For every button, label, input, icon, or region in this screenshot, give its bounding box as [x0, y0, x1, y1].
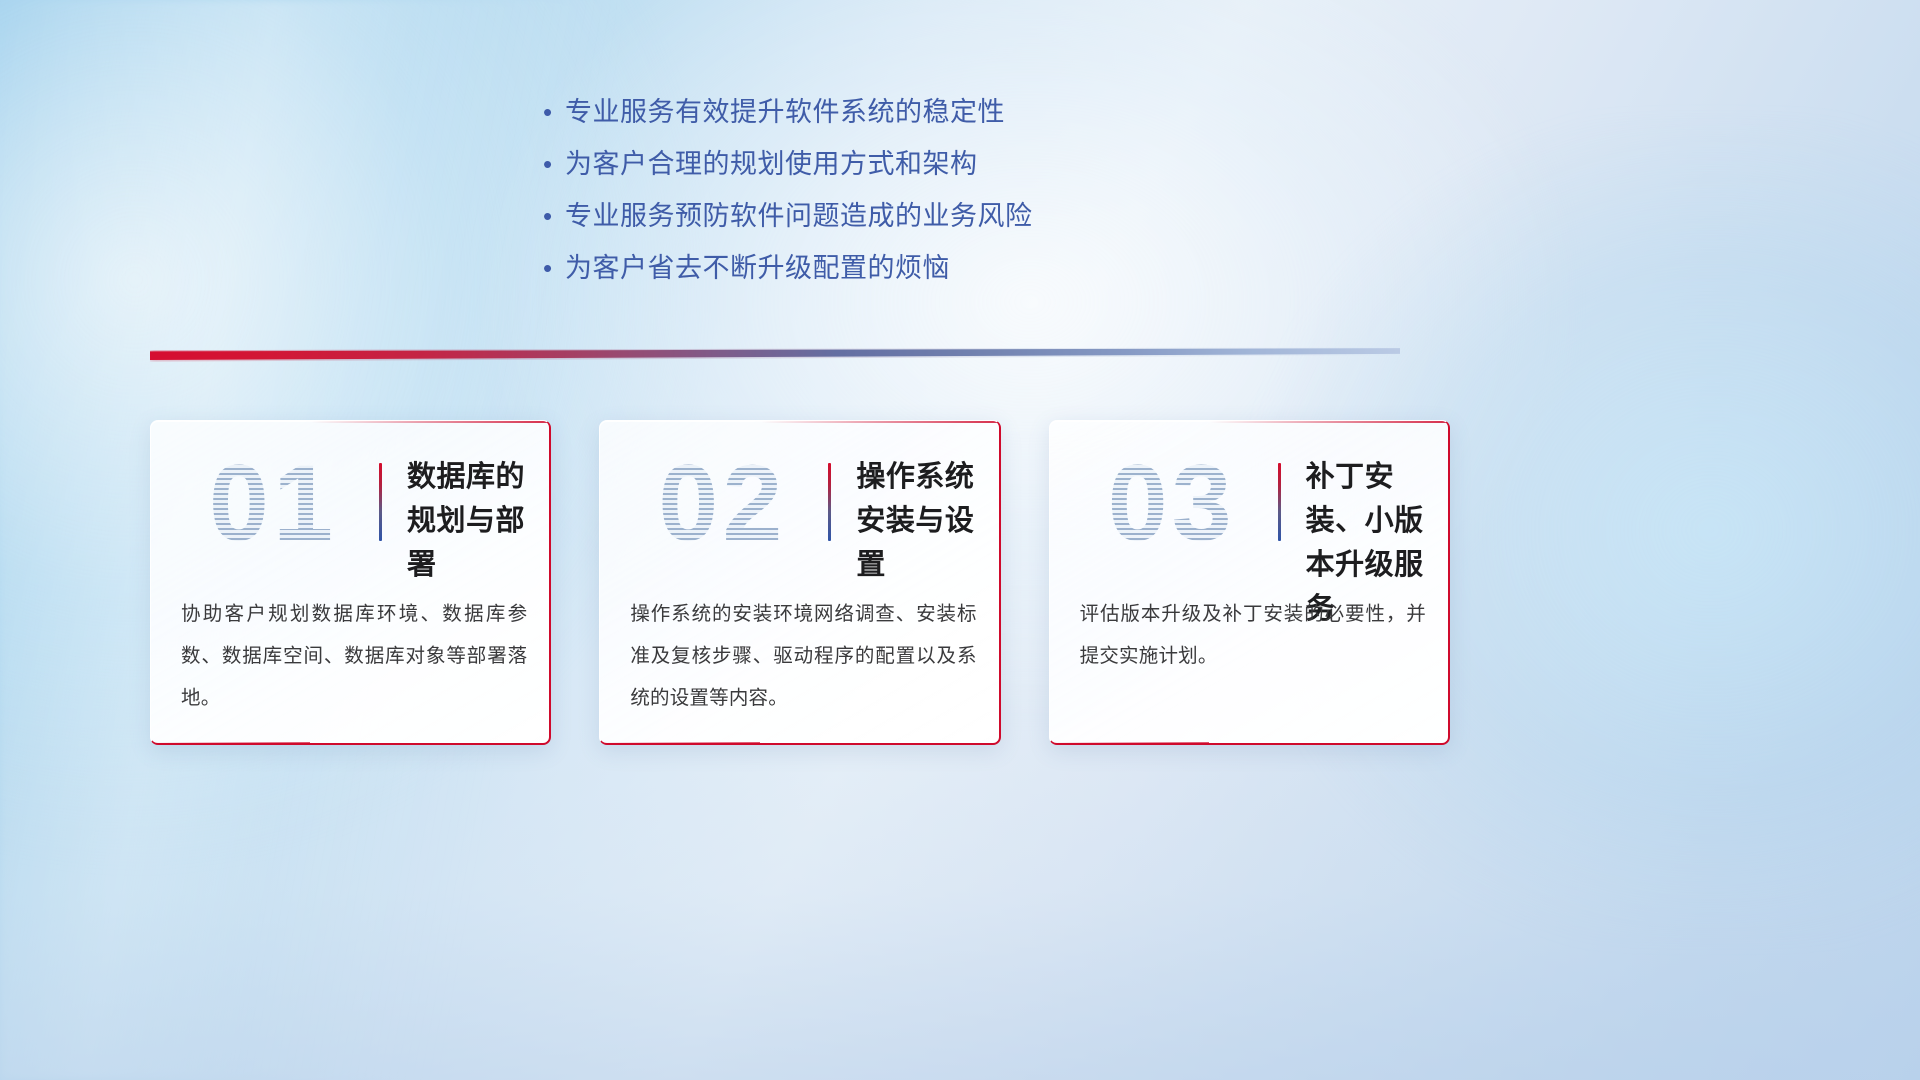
bullet-item: • 为客户合理的规划使用方式和架构	[535, 144, 1315, 196]
card-number-watermark: 03	[1072, 443, 1272, 563]
bullet-text: 专业服务预防软件问题造成的业务风险	[565, 196, 1033, 236]
card-body-text: 协助客户规划数据库环境、数据库参数、数据库空间、数据库对象等部署落地。	[181, 593, 527, 719]
card-body-text: 评估版本升级及补丁安装的必要性，并提交实施计划。	[1080, 593, 1426, 677]
bullet-text: 为客户省去不断升级配置的烦恼	[565, 248, 950, 288]
card-number-watermark: 01	[173, 443, 373, 563]
card-body-text: 操作系统的安装环境网络调查、安装标准及复核步骤、驱动程序的配置以及系统的设置等内…	[630, 593, 976, 719]
card-title: 数据库的规划与部署	[407, 455, 539, 587]
bullet-dot-icon: •	[535, 144, 565, 184]
bullet-dot-icon: •	[535, 92, 565, 132]
bullet-text: 为客户合理的规划使用方式和架构	[565, 144, 978, 184]
bullet-item: • 专业服务预防软件问题造成的业务风险	[535, 196, 1315, 248]
service-card[interactable]: 02 02 操作系统安装与设置 操作系统的安装环境网络调查、安装标准及复核步骤、…	[599, 420, 1000, 745]
card-number-watermark: 02	[622, 443, 822, 563]
card-accent-bar	[1278, 463, 1281, 541]
service-card-header: 02 02 操作系统安装与设置	[600, 421, 998, 581]
service-card[interactable]: 03 03 补丁安装、小版本升级服务 评估版本升级及补丁安装的必要性，并提交实施…	[1049, 420, 1450, 745]
bullet-item: • 为客户省去不断升级配置的烦恼	[535, 248, 1315, 300]
bullet-dot-icon: •	[535, 196, 565, 236]
card-title: 操作系统安装与设置	[856, 455, 988, 587]
section-divider	[150, 340, 1400, 366]
bullet-item: • 专业服务有效提升软件系统的稳定性	[535, 92, 1315, 144]
service-card[interactable]: 01 01 数据库的规划与部署 协助客户规划数据库环境、数据库参数、数据库空间、…	[150, 420, 551, 745]
service-card-header: 01 01 数据库的规划与部署	[151, 421, 549, 581]
benefits-bullet-list: • 专业服务有效提升软件系统的稳定性 • 为客户合理的规划使用方式和架构 • 专…	[535, 92, 1315, 300]
bullet-text: 专业服务有效提升软件系统的稳定性	[565, 92, 1005, 132]
service-card-header: 03 03 补丁安装、小版本升级服务	[1050, 421, 1448, 581]
bullet-dot-icon: •	[535, 248, 565, 288]
service-card-list: 01 01 数据库的规划与部署 协助客户规划数据库环境、数据库参数、数据库空间、…	[150, 420, 1450, 750]
card-accent-bar	[828, 463, 831, 541]
card-accent-bar	[379, 463, 382, 541]
